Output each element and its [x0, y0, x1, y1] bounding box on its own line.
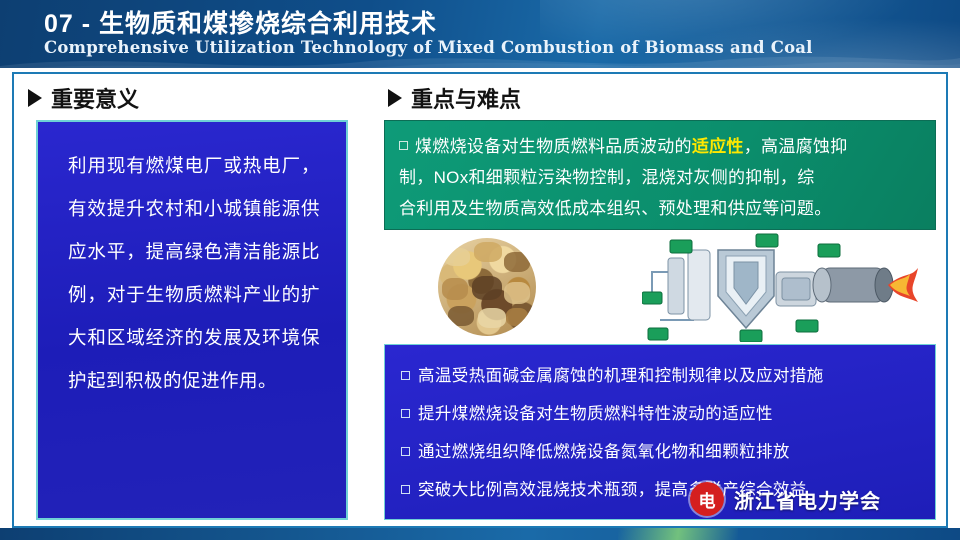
green-box-line-3-text: 合利用及生物质高效低成本组织、预处理和供应等问题。	[399, 193, 832, 224]
section-heading-significance-label: 重要意义	[51, 82, 139, 114]
green-box-line-2-text: 制，NOx和细颗粒污染物控制，混烧对灰侧的抑制，综	[399, 162, 815, 193]
combustion-process-diagram	[642, 232, 922, 342]
page-title: 07 - 生物质和煤掺烧综合利用技术	[44, 4, 437, 40]
green-box-line-1-text: 煤燃烧设备对生物质燃料品质波动的适应性，高温腐蚀抑	[415, 131, 848, 162]
illustration-area	[384, 232, 936, 342]
keypoints-green-box: 煤燃烧设备对生物质燃料品质波动的适应性，高温腐蚀抑 制，NOx和细颗粒污染物控制…	[384, 120, 936, 230]
significance-paragraph: 利用现有燃煤电厂或热电厂，有效提升农村和小城镇能源供应水平，提高绿色清洁能源比例…	[68, 144, 320, 402]
list-item-label: 高温受热面碱金属腐蚀的机理和控制规律以及应对措施	[418, 357, 824, 395]
society-logo-text: 电	[699, 487, 716, 512]
section-heading-significance: 重要意义	[28, 82, 139, 114]
watermark: 电 浙江省电力学会	[690, 482, 881, 516]
page-subtitle: Comprehensive Utilization Technology of …	[44, 38, 813, 57]
square-bullet-icon	[399, 141, 408, 150]
watermark-label: 浙江省电力学会	[734, 485, 881, 514]
square-bullet-icon	[401, 447, 410, 456]
list-item-label: 通过燃烧组织降低燃烧设备氮氧化物和细颗粒排放	[418, 433, 790, 471]
triangle-bullet-icon	[388, 89, 402, 107]
significance-panel: 利用现有燃煤电厂或热电厂，有效提升农村和小城镇能源供应水平，提高绿色清洁能源比例…	[36, 120, 348, 520]
section-heading-keypoints-label: 重点与难点	[411, 82, 521, 114]
triangle-bullet-icon	[28, 89, 42, 107]
society-logo-icon: 电	[690, 482, 724, 516]
list-item: 高温受热面碱金属腐蚀的机理和控制规律以及应对措施	[401, 357, 925, 395]
square-bullet-icon	[401, 371, 410, 380]
highlighted-term: 适应性	[692, 137, 744, 156]
slide-header: 07 - 生物质和煤掺烧综合利用技术 Comprehensive Utiliza…	[0, 0, 960, 68]
green-box-line-3: 合利用及生物质高效低成本组织、预处理和供应等问题。	[399, 193, 923, 224]
list-item: 通过燃烧组织降低燃烧设备氮氧化物和细颗粒排放	[401, 433, 925, 471]
square-bullet-icon	[401, 485, 410, 494]
green-box-line-2: 制，NOx和细颗粒污染物控制，混烧对灰侧的抑制，综	[399, 162, 923, 193]
footer-accent-decoration	[618, 528, 738, 540]
biomass-materials-photo	[438, 238, 536, 336]
green-box-line-1: 煤燃烧设备对生物质燃料品质波动的适应性，高温腐蚀抑	[399, 131, 923, 162]
list-item: 提升煤燃烧设备对生物质燃料特性波动的适应性	[401, 395, 925, 433]
slide-footer-bar	[0, 528, 960, 540]
list-item-label: 提升煤燃烧设备对生物质燃料特性波动的适应性	[418, 395, 773, 433]
section-heading-keypoints: 重点与难点	[388, 82, 521, 114]
square-bullet-icon	[401, 409, 410, 418]
slide: 07 - 生物质和煤掺烧综合利用技术 Comprehensive Utiliza…	[0, 0, 960, 540]
